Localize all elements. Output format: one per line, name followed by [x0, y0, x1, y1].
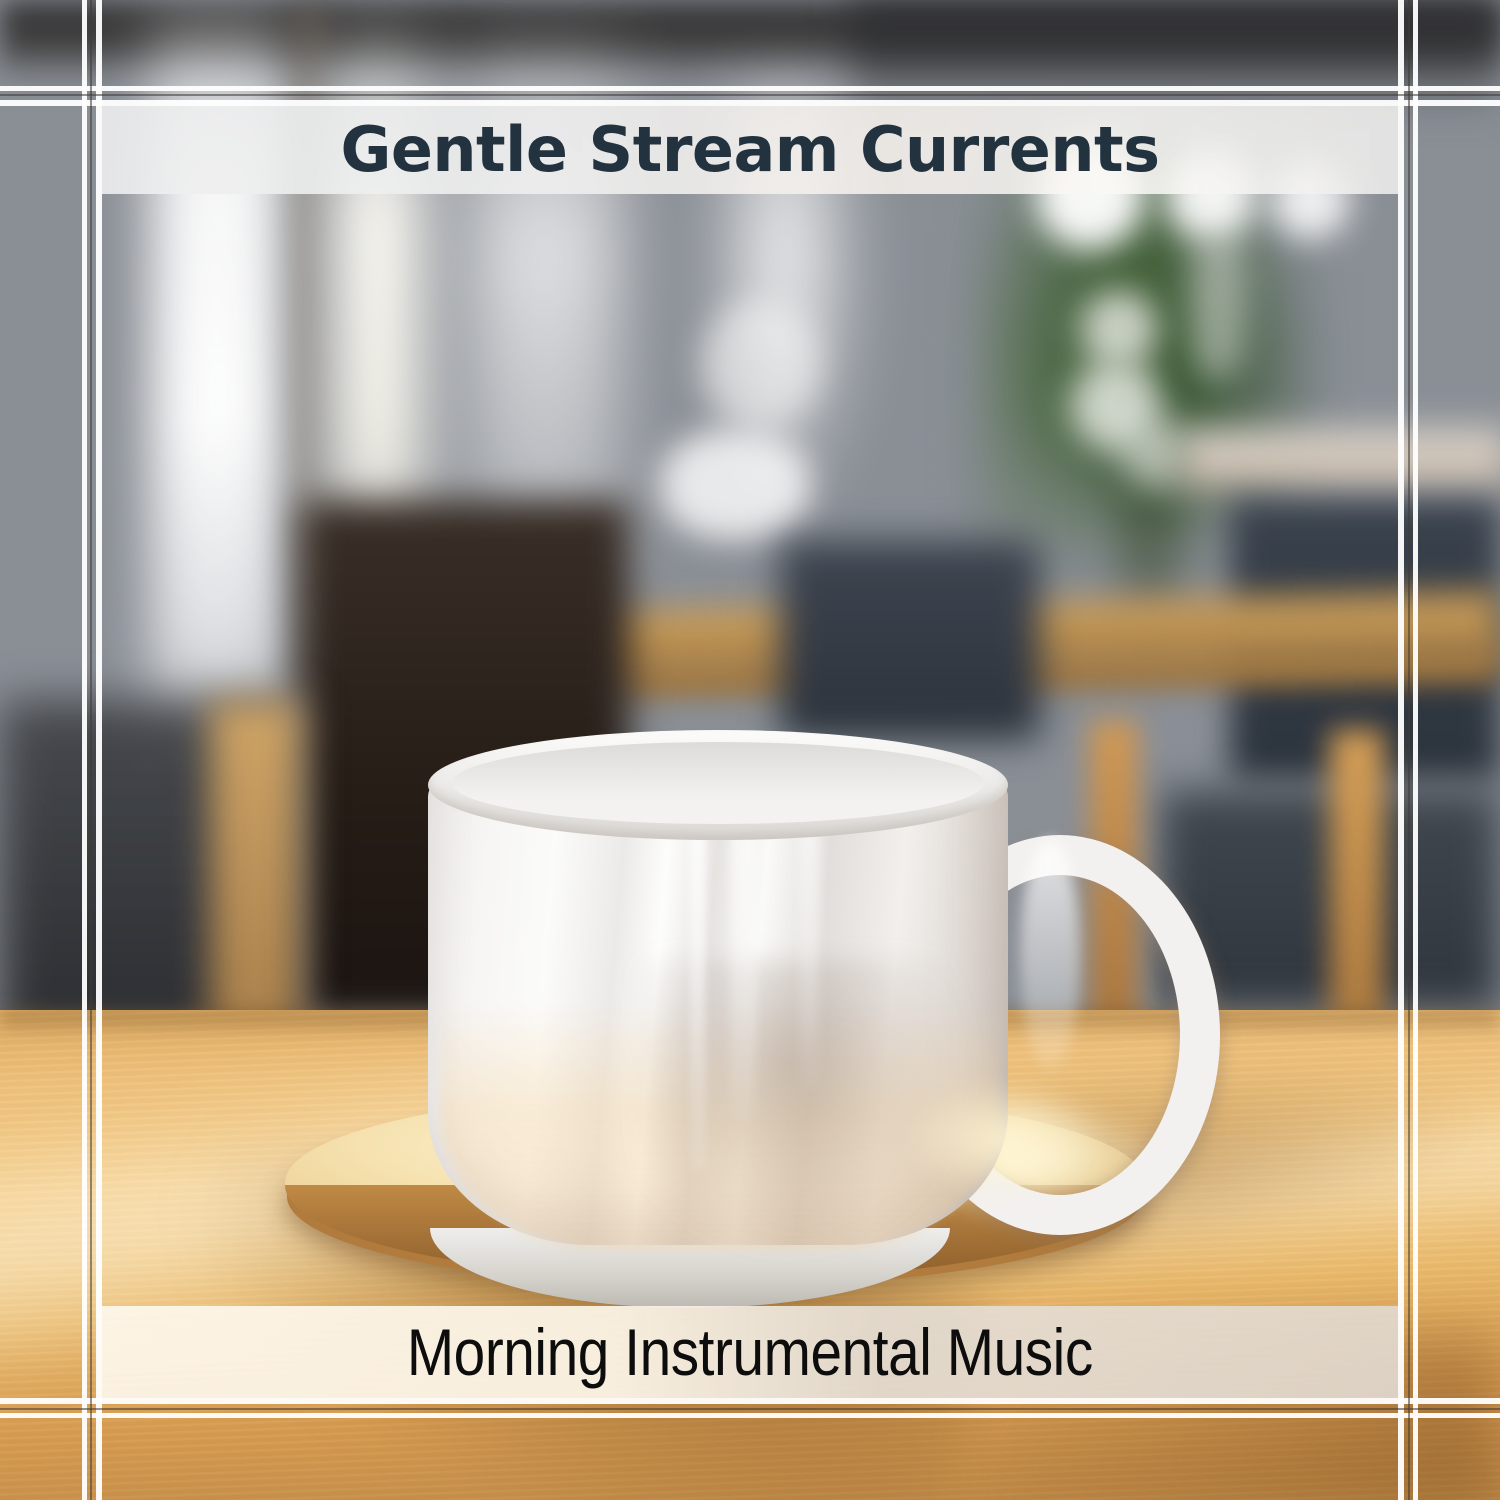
album-cover: Gentle Stream Currents Morning Instrumen… [0, 0, 1500, 1500]
table-leg-left [210, 700, 300, 1040]
handle-sunglow [905, 1080, 1105, 1200]
title-band: Gentle Stream Currents [102, 106, 1398, 194]
bokeh-light-8 [660, 430, 810, 540]
album-title: Gentle Stream Currents [340, 119, 1159, 181]
window-light-right [470, 20, 620, 580]
ceiling-band-right [850, 0, 1500, 120]
subtitle-band: Morning Instrumental Music [102, 1306, 1398, 1398]
mug-gloss-1 [690, 790, 706, 1170]
cover-artwork-photo [0, 0, 1500, 1500]
cafe-chair-center [780, 540, 1040, 740]
mug-rim-interior [452, 742, 984, 824]
handle-highlight [1020, 840, 1080, 1070]
bokeh-light-9 [700, 300, 820, 430]
album-subtitle: Morning Instrumental Music [407, 1319, 1093, 1385]
bokeh-light-4 [1080, 290, 1158, 368]
counter-shelf [1180, 430, 1500, 490]
bokeh-light-7 [1190, 230, 1246, 380]
table-leg-right [1330, 730, 1384, 1030]
